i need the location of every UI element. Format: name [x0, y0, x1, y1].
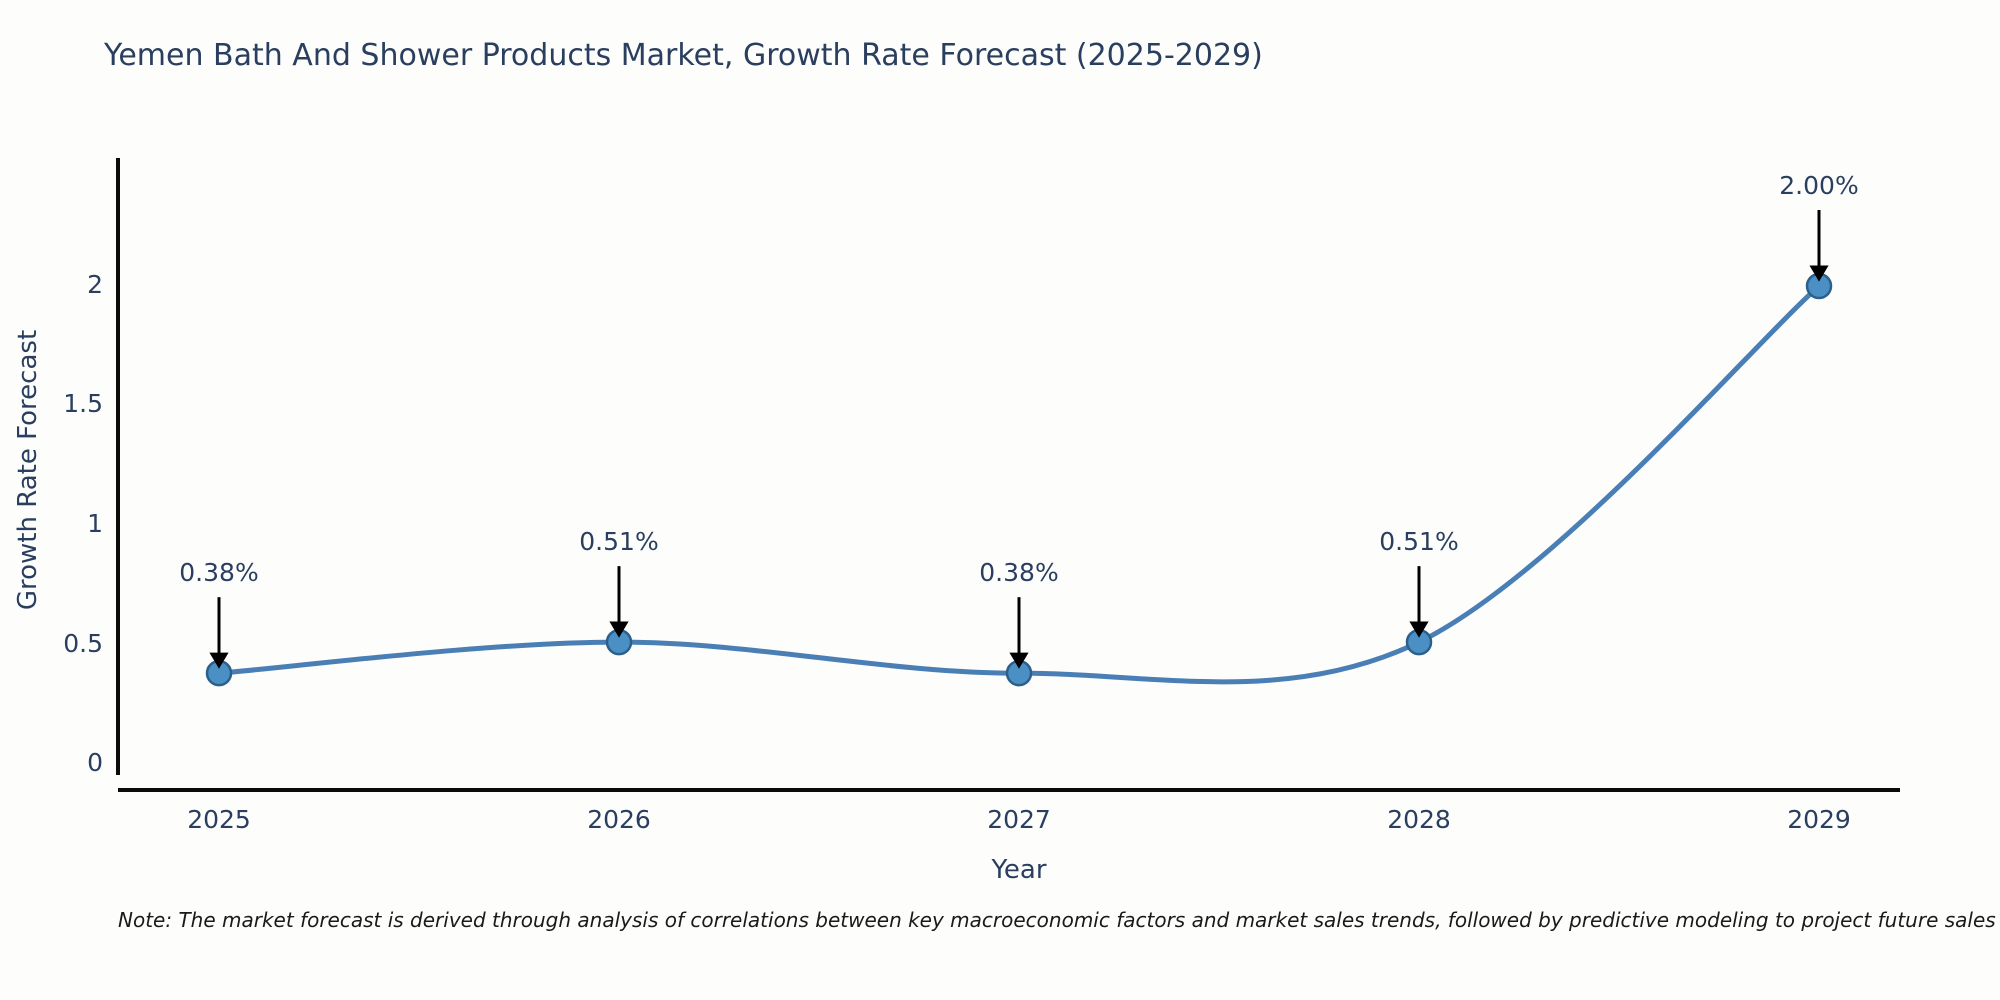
x-tick-label: 2027 [987, 805, 1051, 834]
y-tick-labels: 2 1.5 1 0.5 0 [63, 270, 103, 777]
x-tick-label: 2025 [187, 805, 251, 834]
data-point-marker[interactable] [1407, 630, 1431, 654]
point-annotations [219, 210, 1819, 659]
data-point-label: 2.00% [1779, 171, 1858, 200]
y-tick-label: 1 [87, 509, 103, 538]
x-tick-label: 2026 [587, 805, 651, 834]
data-point-marker[interactable] [607, 630, 631, 654]
y-tick-label: 0 [87, 748, 103, 777]
x-tick-label: 2028 [1387, 805, 1451, 834]
y-tick-label: 2 [87, 270, 103, 299]
data-point-marker[interactable] [207, 661, 231, 685]
point-annotation-labels: 0.38%0.51%0.38%0.51%2.00% [179, 171, 1858, 587]
y-tick-label: 0.5 [63, 629, 103, 658]
y-axis-title: Growth Rate Forecast [13, 330, 43, 610]
data-point-label: 0.38% [979, 558, 1058, 587]
data-point-label: 0.51% [1379, 527, 1458, 556]
y-tick-label: 1.5 [63, 389, 103, 418]
x-tick-labels: 2025 2026 2027 2028 2029 [187, 805, 1851, 834]
chart-footnote: Note: The market forecast is derived thr… [118, 908, 2000, 932]
data-point-label: 0.38% [179, 558, 258, 587]
data-point-marker[interactable] [1007, 661, 1031, 685]
data-point-label: 0.51% [579, 527, 658, 556]
x-tick-label: 2029 [1787, 805, 1851, 834]
line-chart-plot: 2 1.5 1 0.5 0 Growth Rate Forecast 2025 … [0, 0, 2000, 1000]
x-axis-title: Year [990, 855, 1046, 885]
chart-figure: Yemen Bath And Shower Products Market, G… [0, 0, 2000, 1000]
data-point-marker[interactable] [1807, 274, 1831, 298]
